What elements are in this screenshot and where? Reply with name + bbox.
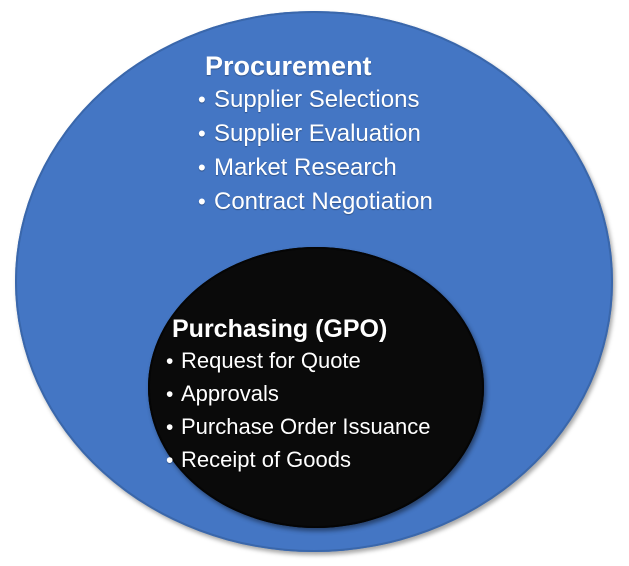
bullet-icon: • — [166, 379, 181, 411]
bullet-icon: • — [166, 346, 181, 378]
bullet-icon: • — [198, 151, 214, 185]
purchasing-bullet-list: • Request for Quote • Approvals • Purcha… — [166, 345, 430, 477]
purchasing-list-item-label: Request for Quote — [181, 345, 361, 377]
bullet-icon: • — [166, 445, 181, 477]
purchasing-list-item-label: Receipt of Goods — [181, 444, 351, 476]
purchasing-list-item: • Receipt of Goods — [166, 444, 430, 477]
procurement-list-item-label: Supplier Selections — [214, 83, 419, 117]
procurement-list-item-label: Contract Negotiation — [214, 185, 433, 219]
purchasing-title: Purchasing (GPO) — [172, 313, 430, 345]
procurement-list-item-label: Supplier Evaluation — [214, 117, 421, 151]
purchasing-list-item-label: Purchase Order Issuance — [181, 411, 430, 443]
procurement-text-block: Procurement • Supplier Selections • Supp… — [198, 50, 433, 219]
bullet-icon: • — [198, 83, 214, 117]
procurement-list-item: • Supplier Evaluation — [198, 117, 433, 151]
diagram-canvas: Procurement • Supplier Selections • Supp… — [0, 0, 629, 566]
purchasing-list-item-label: Approvals — [181, 378, 279, 410]
purchasing-list-item: • Approvals — [166, 378, 430, 411]
procurement-title: Procurement — [205, 50, 433, 83]
procurement-list-item: • Contract Negotiation — [198, 185, 433, 219]
bullet-icon: • — [166, 412, 181, 444]
procurement-bullet-list: • Supplier Selections • Supplier Evaluat… — [198, 83, 433, 219]
purchasing-list-item: • Purchase Order Issuance — [166, 411, 430, 444]
bullet-icon: • — [198, 117, 214, 151]
procurement-list-item-label: Market Research — [214, 151, 397, 185]
purchasing-text-block: Purchasing (GPO) • Request for Quote • A… — [166, 313, 430, 477]
procurement-list-item: • Supplier Selections — [198, 83, 433, 117]
purchasing-list-item: • Request for Quote — [166, 345, 430, 378]
procurement-list-item: • Market Research — [198, 151, 433, 185]
bullet-icon: • — [198, 185, 214, 219]
